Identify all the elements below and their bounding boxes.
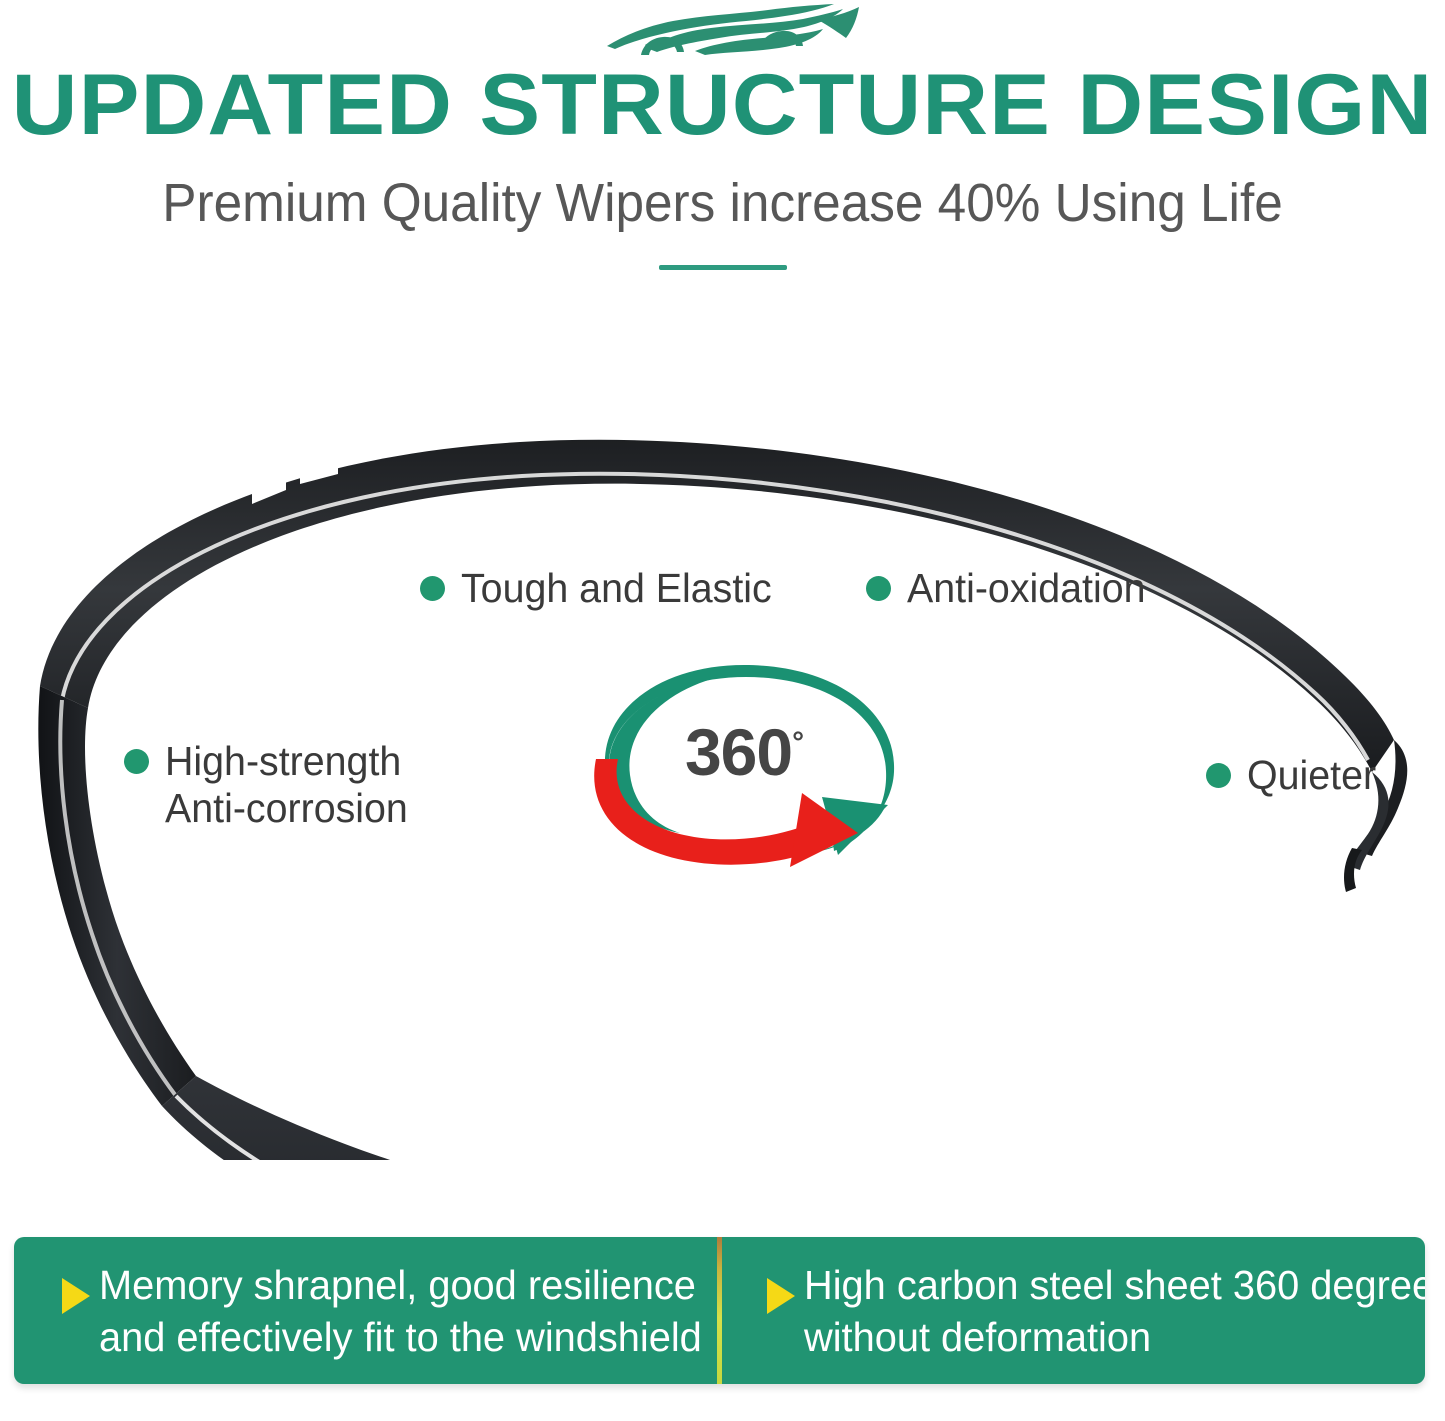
callout-label: High-strengthAnti-corrosion xyxy=(165,738,408,832)
callout-label-line2: Anti-corrosion xyxy=(165,785,408,832)
page-title: UPDATED STRUCTURE DESIGN xyxy=(0,57,1445,153)
banner-item-line2: without deformation xyxy=(804,1311,1425,1363)
callout-quieter: Quieter xyxy=(1206,752,1381,799)
360-degree-badge: 360° xyxy=(566,655,922,870)
banner-item-memory-shrapnel: Memory shrapnel, good resilienceand effe… xyxy=(14,1237,717,1384)
bullet-dot-icon xyxy=(420,576,445,601)
callout-anti-oxidation: Anti-oxidation xyxy=(866,565,1155,612)
callout-tough-and-elastic: Tough and Elastic xyxy=(420,565,785,612)
banner-item-text: High carbon steel sheet 360 degreeswitho… xyxy=(804,1259,1425,1363)
bullet-dot-icon xyxy=(866,576,891,601)
banner-item-high-carbon-steel: High carbon steel sheet 360 degreeswitho… xyxy=(722,1237,1425,1384)
bullet-dot-icon xyxy=(124,749,149,774)
callout-label-line1: High-strength xyxy=(165,738,401,784)
callout-label: Tough and Elastic xyxy=(461,565,772,612)
car-silhouette-logo-icon xyxy=(585,2,875,60)
callout-high-strength-anti-corrosion: High-strengthAnti-corrosion xyxy=(124,738,418,832)
title-underline-rule xyxy=(659,265,787,270)
banner-item-line1: High carbon steel sheet 360 degrees xyxy=(804,1262,1425,1308)
badge-value: 360° xyxy=(566,717,922,787)
badge-number: 360 xyxy=(685,715,792,789)
banner-item-line2: and effectively fit to the windshield xyxy=(99,1311,702,1363)
bullet-dot-icon xyxy=(1206,763,1231,788)
banner-item-line1: Memory shrapnel, good resilience xyxy=(99,1262,696,1308)
play-triangle-icon xyxy=(62,1278,90,1314)
callout-label: Anti-oxidation xyxy=(907,565,1146,612)
callout-label: Quieter xyxy=(1247,752,1376,799)
play-triangle-icon xyxy=(767,1278,795,1314)
feature-banner: Memory shrapnel, good resilienceand effe… xyxy=(14,1237,1425,1384)
banner-item-text: Memory shrapnel, good resilienceand effe… xyxy=(99,1259,702,1363)
badge-degree-symbol: ° xyxy=(792,726,803,759)
page-subtitle: Premium Quality Wipers increase 40% Usin… xyxy=(36,172,1409,234)
product-feature-infographic: UPDATED STRUCTURE DESIGN Premium Quality… xyxy=(0,0,1445,1421)
